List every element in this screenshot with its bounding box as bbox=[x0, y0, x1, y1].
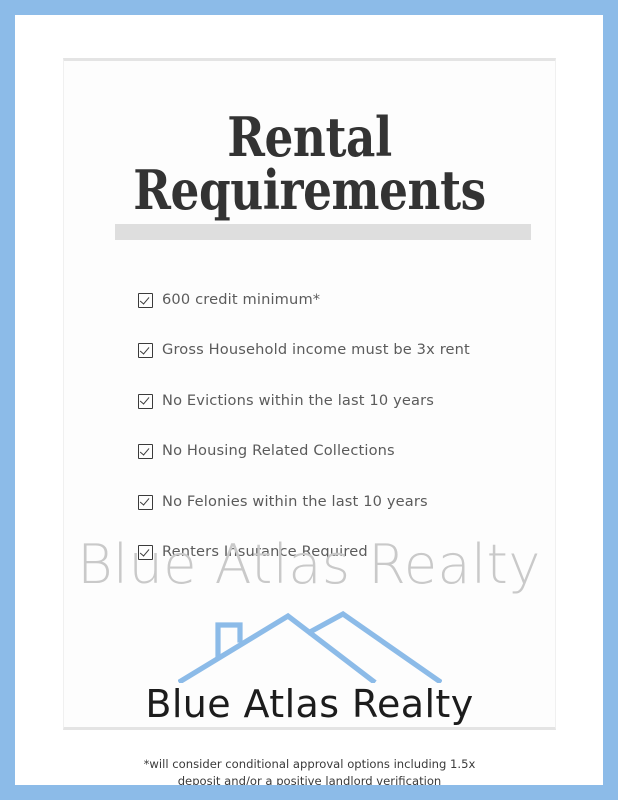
list-item-label: 600 credit minimum* bbox=[162, 290, 320, 310]
checkbox-checked-icon bbox=[138, 495, 153, 510]
checkbox-checked-icon bbox=[138, 293, 153, 308]
flyer-page: Rental Requirements 600 credit minimum* … bbox=[15, 15, 603, 785]
list-item-label: No Felonies within the last 10 years bbox=[162, 492, 428, 512]
checkbox-checked-icon bbox=[138, 343, 153, 358]
roof-peaks-with-chimney-icon bbox=[178, 611, 442, 683]
footer-disclaimer: *will consider conditional approval opti… bbox=[63, 756, 556, 785]
page-title: Rental Requirements bbox=[63, 111, 556, 217]
checkbox-checked-icon bbox=[138, 545, 153, 560]
brand-logo: Blue Atlas Realty bbox=[63, 611, 556, 727]
list-item: 600 credit minimum* bbox=[138, 290, 558, 314]
list-item: Renters Insurance Required bbox=[138, 542, 558, 566]
requirements-checklist: 600 credit minimum* Gross Household inco… bbox=[138, 290, 558, 592]
list-item: No Housing Related Collections bbox=[138, 441, 558, 465]
title-line-rental: Rental bbox=[102, 111, 516, 164]
list-item: No Felonies within the last 10 years bbox=[138, 492, 558, 516]
list-item-label: No Housing Related Collections bbox=[162, 441, 395, 461]
list-item-label: No Evictions within the last 10 years bbox=[162, 391, 434, 411]
list-item-label: Renters Insurance Required bbox=[162, 542, 368, 562]
footer-line-1: *will consider conditional approval opti… bbox=[63, 756, 556, 773]
brand-logo-text: Blue Atlas Realty bbox=[63, 681, 556, 727]
title-highlight-bar bbox=[115, 224, 531, 240]
checkbox-checked-icon bbox=[138, 444, 153, 459]
list-item-label: Gross Household income must be 3x rent bbox=[162, 340, 470, 360]
footer-line-2: deposit and/or a positive landlord verif… bbox=[63, 773, 556, 785]
list-item: Gross Household income must be 3x rent bbox=[138, 340, 558, 364]
list-item: No Evictions within the last 10 years bbox=[138, 391, 558, 415]
checkbox-checked-icon bbox=[138, 394, 153, 409]
title-line-requirements: Requirements bbox=[102, 164, 516, 217]
